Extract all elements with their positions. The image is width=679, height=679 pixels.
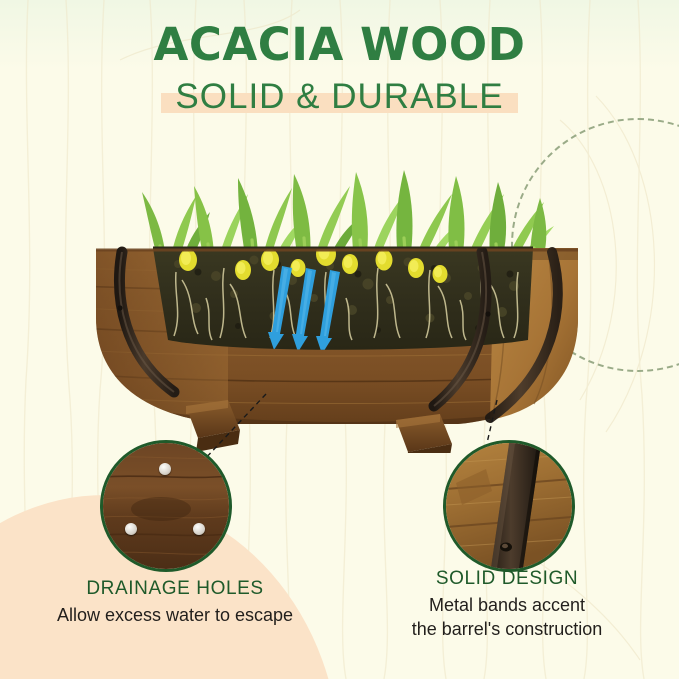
feature-title-drainage: DRAINAGE HOLES: [10, 578, 340, 600]
page-title: ACACIA WOOD: [0, 22, 679, 67]
detail-circle-drainage-holes[interactable]: [100, 440, 232, 572]
drainage-hole: [125, 523, 137, 535]
page-subtitle: SOLID & DURABLE: [175, 79, 503, 114]
feature-description-solid-design: Metal bands accent the barrel's construc…: [352, 594, 662, 642]
feature-description-drainage: Allow excess water to escape: [10, 604, 340, 628]
infographic-canvas: ACACIA WOOD SOLID & DURABLE: [0, 0, 679, 679]
feature-title-solid-design: SOLID DESIGN: [352, 568, 662, 590]
feature-description-line: Allow excess water to escape: [10, 604, 340, 628]
subtitle-wrapper: SOLID & DURABLE: [175, 79, 503, 114]
caption-solid-design: SOLID DESIGN Metal bands accent the barr…: [352, 568, 662, 642]
product-image-barrel-planter: [78, 168, 608, 453]
feature-description-line: the barrel's construction: [352, 618, 662, 642]
drainage-hole: [193, 523, 205, 535]
caption-drainage-holes: DRAINAGE HOLES Allow excess water to esc…: [10, 578, 340, 628]
feature-description-line: Metal bands accent: [352, 594, 662, 618]
drainage-hole: [159, 463, 171, 475]
header: ACACIA WOOD SOLID & DURABLE: [0, 22, 679, 114]
detail-circle-metal-band[interactable]: [443, 440, 575, 572]
